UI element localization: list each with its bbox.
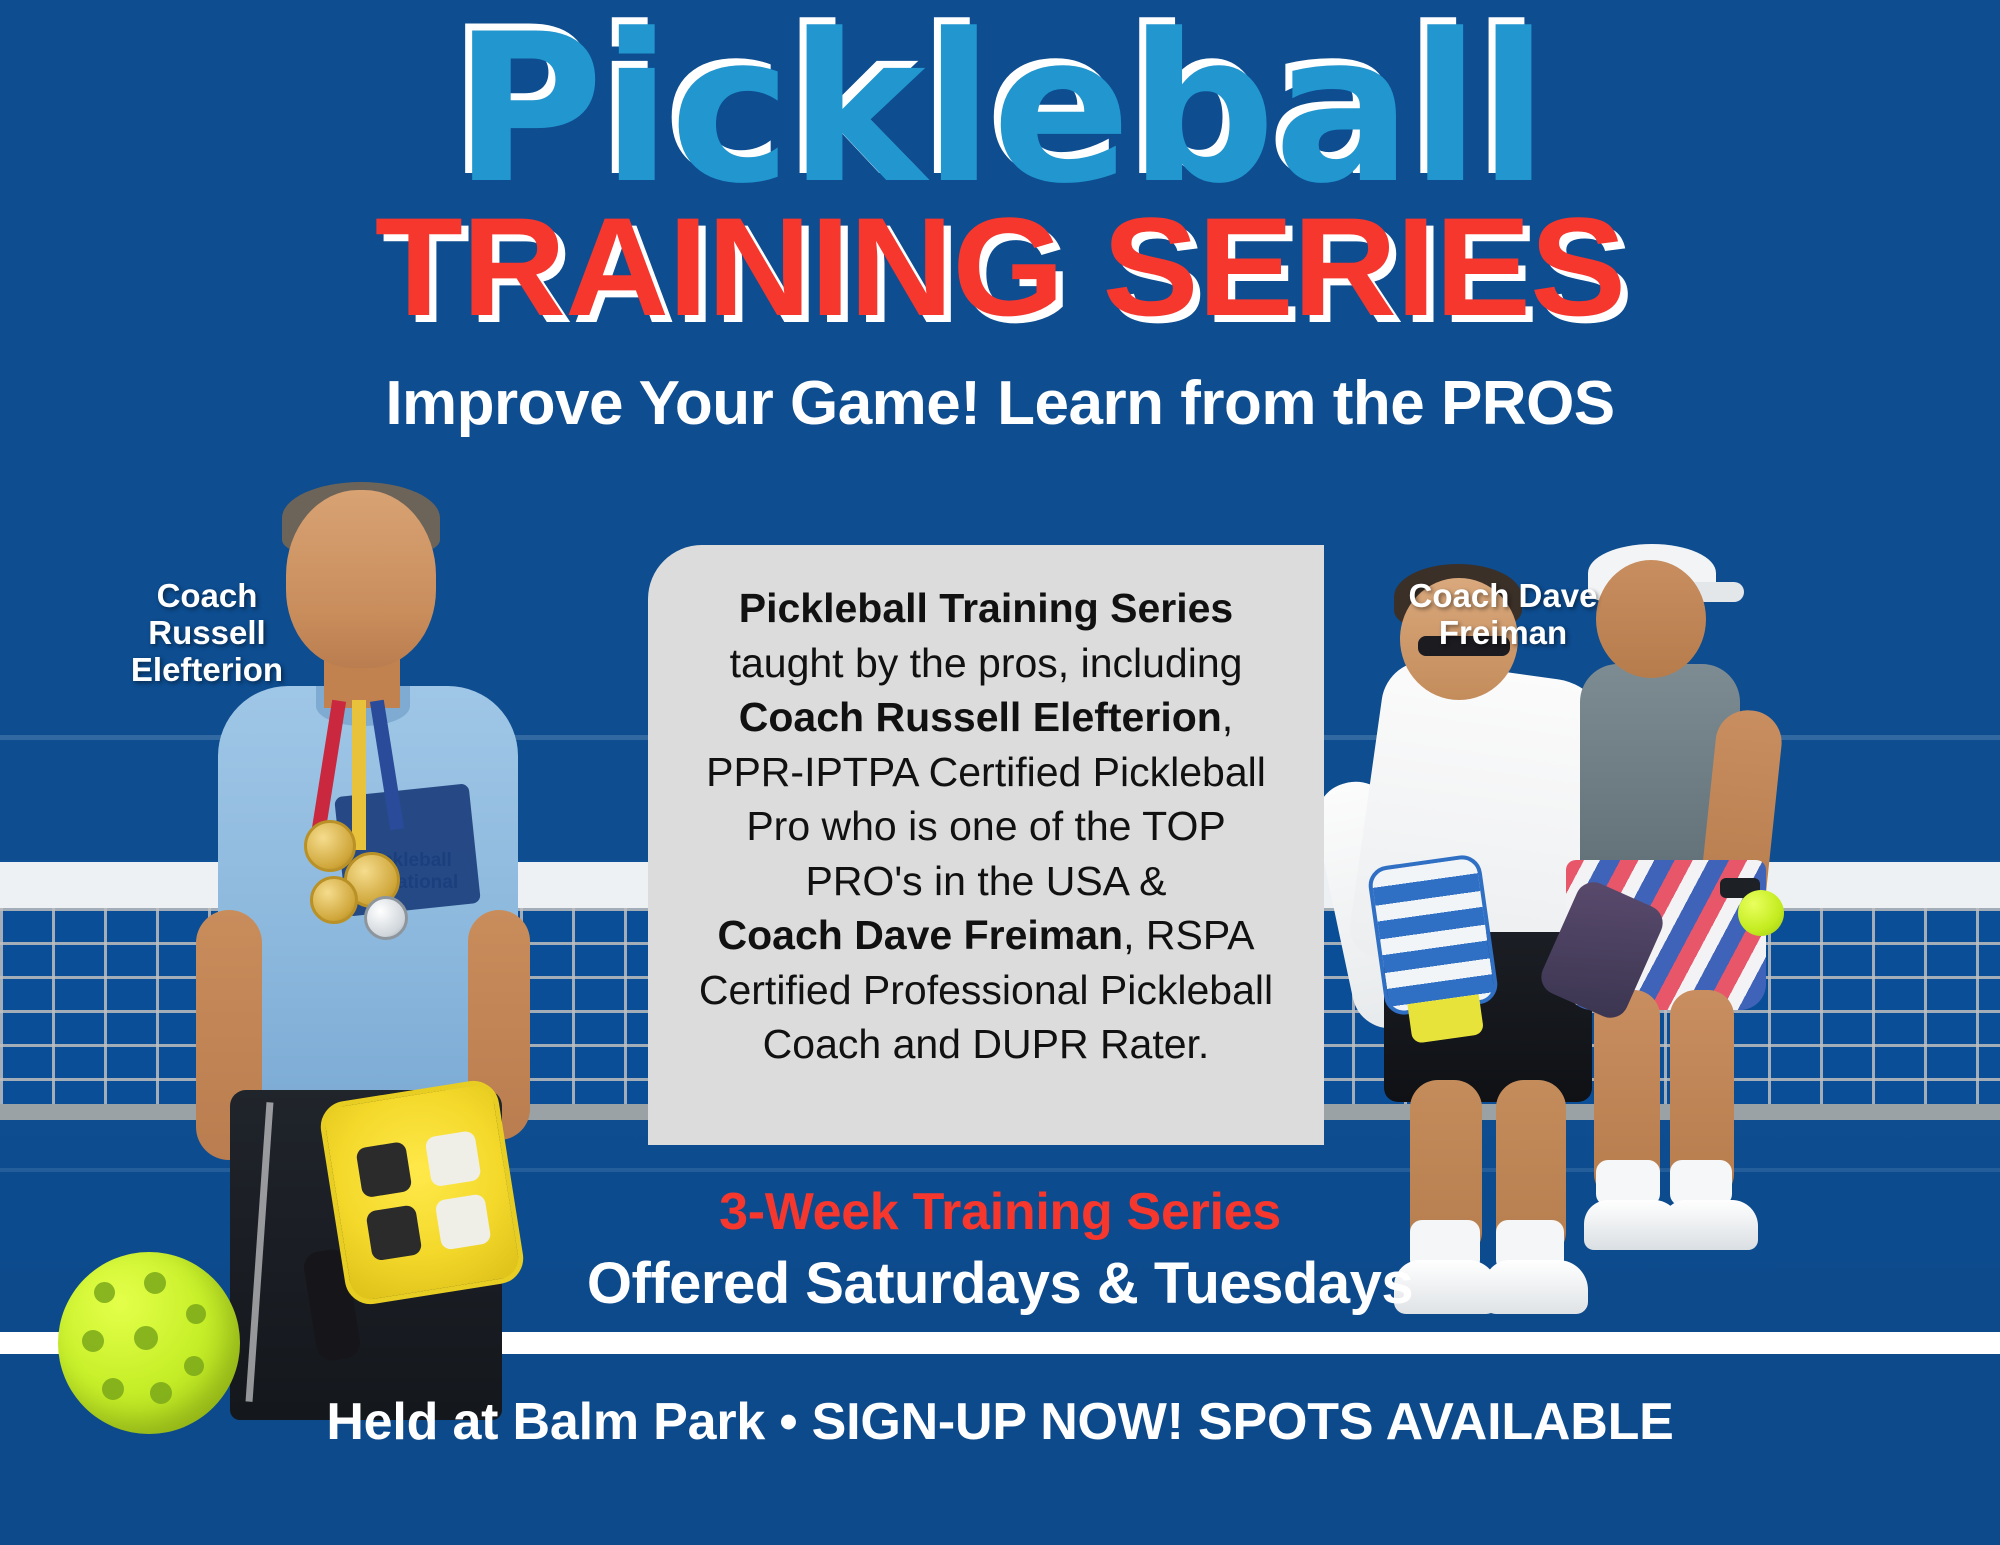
medal-icon <box>310 876 358 924</box>
info-coach-2-name: Coach Dave Freiman <box>718 912 1124 958</box>
medal-icon <box>364 896 408 940</box>
coach-label-russell: Coach Russell Elefterion <box>92 578 322 689</box>
coach-label-dave: Coach Dave Freiman <box>1378 578 1628 652</box>
paddle-icon <box>1366 853 1500 1017</box>
pickleball-training-poster: Pickleball TRAINING SERIES Improve Your … <box>0 0 2000 1545</box>
info-line-4: Pro who is one of the TOP <box>746 803 1225 849</box>
info-line-6: Certified Professional Pickleball <box>699 967 1273 1013</box>
pickleball-icon <box>58 1252 240 1434</box>
info-line-7: Coach and DUPR Rater. <box>763 1021 1210 1067</box>
medal-ribbon-blue <box>370 700 404 831</box>
info-line-3: PPR-IPTPA Certified Pickleball <box>706 749 1266 795</box>
tagline: Improve Your Game! Learn from the PROS <box>0 368 2000 439</box>
info-card: Pickleball Training Series taught by the… <box>648 545 1324 1145</box>
medal-ribbon-red <box>312 700 346 831</box>
medal-ribbon-gold <box>352 700 366 850</box>
info-coach-1-name: Coach Russell Elefterion <box>739 694 1222 740</box>
info-line-2: taught by the pros, including <box>730 640 1243 686</box>
page-subtitle: TRAINING SERIES <box>0 204 2000 330</box>
info-comma-2: , RSPA <box>1123 912 1254 958</box>
info-line-5: PRO's in the USA & <box>805 858 1166 904</box>
pickleball-icon <box>1738 890 1784 936</box>
promo-duration: 3-Week Training Series <box>0 1182 2000 1242</box>
paddle-square <box>424 1130 481 1187</box>
info-line-1: Pickleball Training Series <box>739 585 1234 631</box>
footer-signup-text: Held at Balm Park • SIGN-UP NOW! SPOTS A… <box>0 1392 2000 1452</box>
promo-schedule: Offered Saturdays & Tuesdays <box>0 1250 2000 1317</box>
info-comma-1: , <box>1222 694 1233 740</box>
headline-block: Pickleball TRAINING SERIES Improve Your … <box>0 22 2000 439</box>
page-title: Pickleball <box>0 22 2000 198</box>
russell-medals <box>302 700 422 930</box>
